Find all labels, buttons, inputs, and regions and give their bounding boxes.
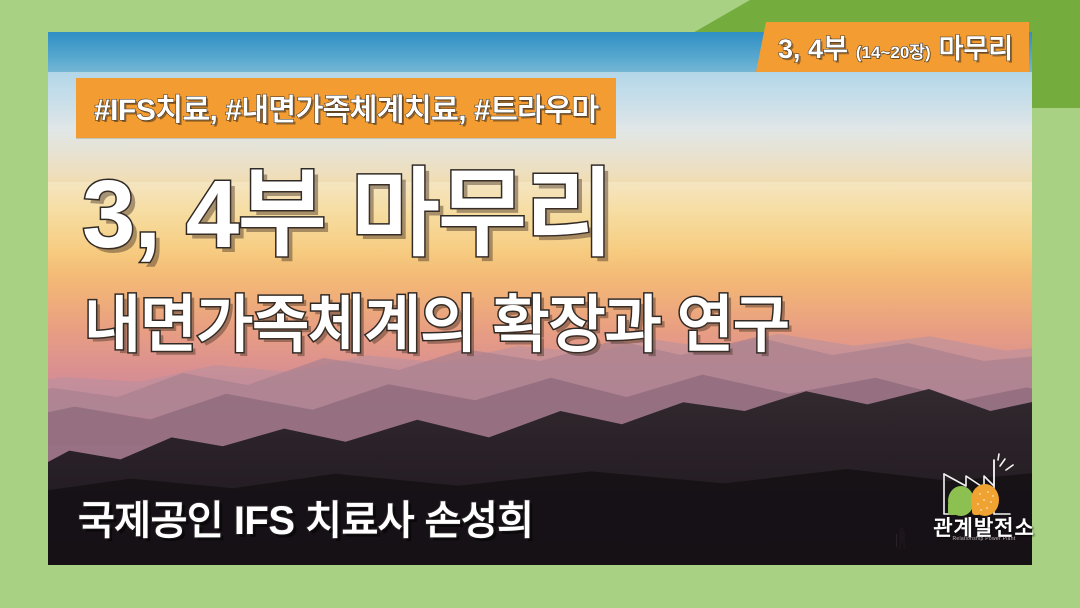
page-title: 3, 4부 마무리 (82, 165, 613, 266)
chapter-banner-suffix: 마무리 (939, 27, 1014, 66)
brand-logo: 관계발전소 Relationship Power Plant (932, 452, 1036, 556)
chapter-banner-range: (14~20장) (856, 38, 931, 63)
logo-tagline: Relationship Power Plant (932, 536, 1036, 542)
slide-canvas: #IFS치료, #내면가족체계치료, #트라우마 3, 4부 마무리 내면가족체… (0, 0, 1080, 608)
chapter-banner: 3, 4부 (14~20장) 마무리 (756, 22, 1029, 72)
chapter-banner-part: 3, 4부 (778, 27, 848, 66)
hashtag-text: #IFS치료, #내면가족체계치료, #트라우마 (94, 94, 598, 127)
page-subtitle: 내면가족체계의 확장과 연구 (84, 292, 789, 360)
hiker-icon (896, 527, 908, 549)
hashtag-bar: #IFS치료, #내면가족체계치료, #트라우마 (76, 78, 616, 138)
presenter-name: 국제공인 IFS 치료사 손성희 (78, 488, 534, 546)
